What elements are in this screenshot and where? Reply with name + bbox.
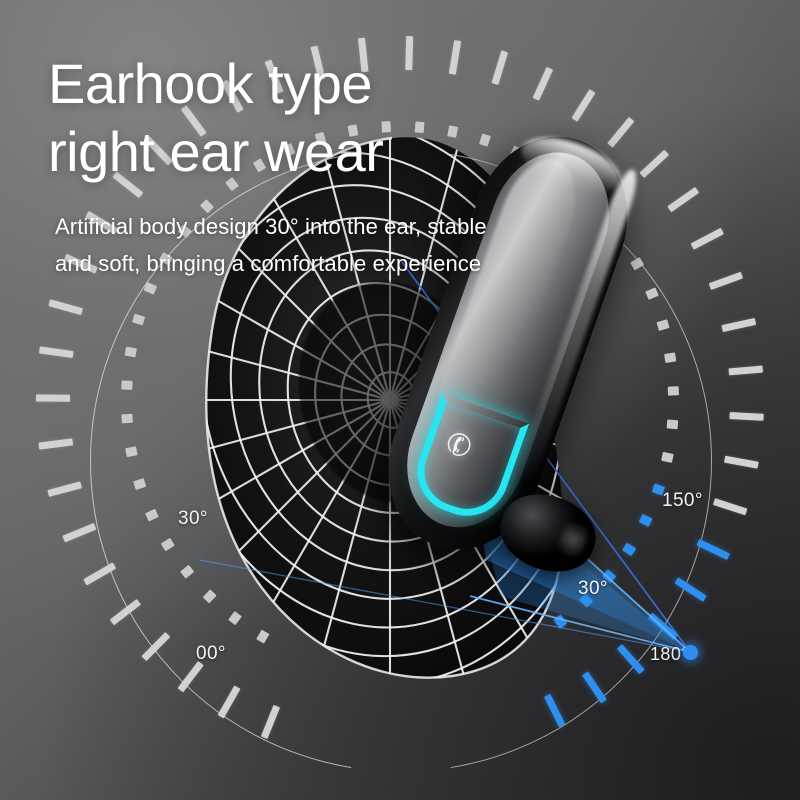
dial-label-cone-30: 30°	[578, 578, 608, 600]
dial-label-left-30: 30°	[178, 508, 208, 530]
dial-marker-dot	[683, 645, 698, 660]
dial-label-right-150: 150°	[662, 490, 703, 512]
subtitle: Artificial body design 30° into the ear,…	[55, 208, 525, 282]
phone-call-icon: ✆	[447, 432, 472, 462]
dial-label-left-00: 00°	[196, 643, 226, 665]
headline: Earhook type right ear wear	[48, 50, 383, 186]
headline-line-2: right ear wear	[48, 118, 383, 186]
product-marketing-banner: ✆ 30° 00° 150° 180° 30° Earhook type rig…	[0, 0, 800, 800]
headline-line-1: Earhook type	[48, 50, 383, 118]
